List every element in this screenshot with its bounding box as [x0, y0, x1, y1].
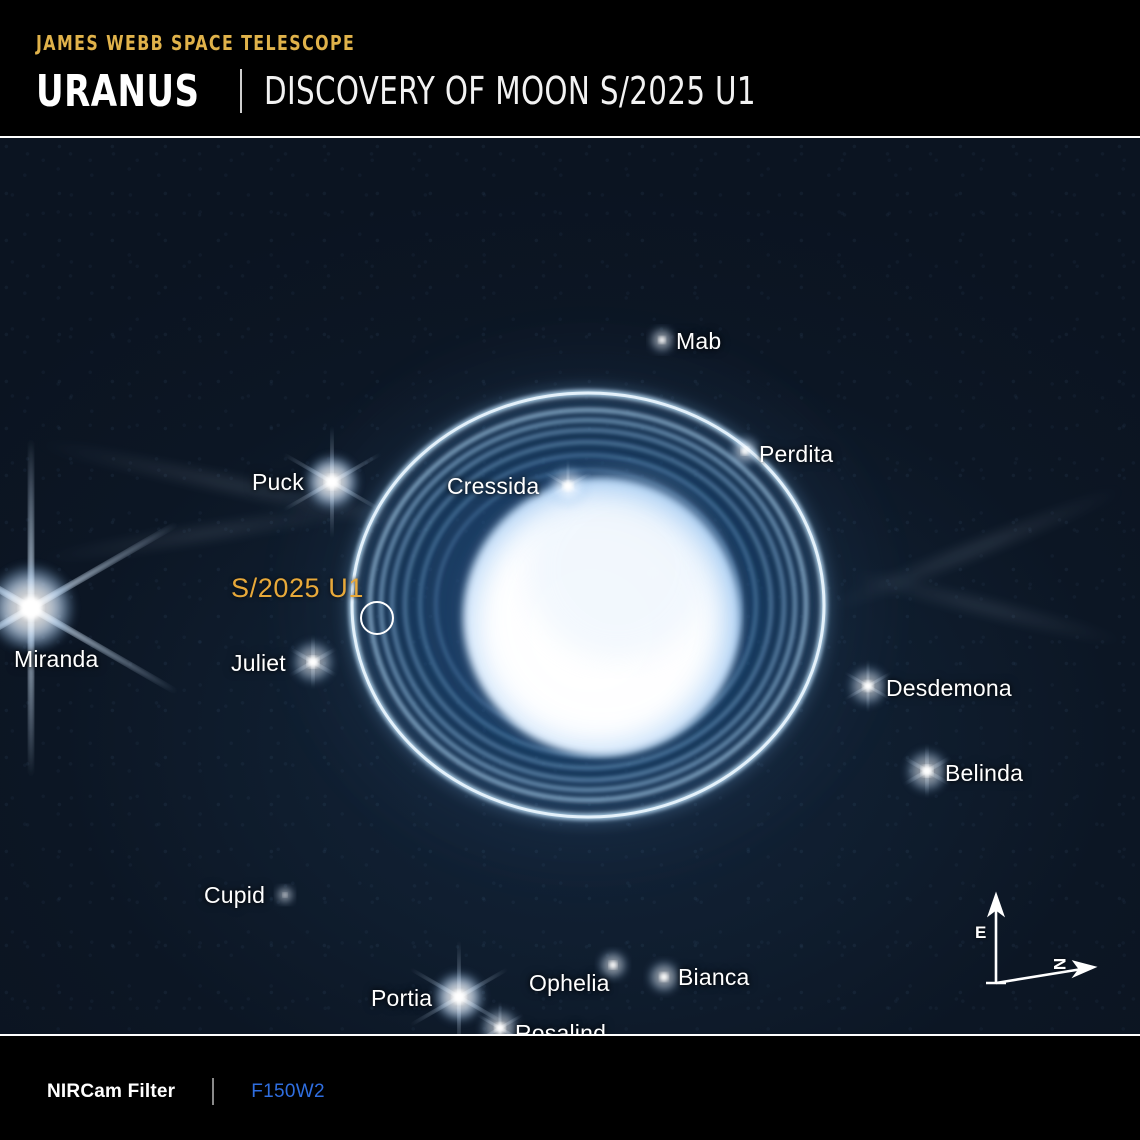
moon-label-cressida: Cressida	[447, 473, 539, 500]
footer-divider	[212, 1078, 214, 1105]
observatory-name: JAMES WEBB SPACE TELESCOPE	[36, 31, 355, 55]
header-bar: JAMES WEBB SPACE TELESCOPE URANUS DISCOV…	[0, 0, 1140, 138]
moon-label-puck: Puck	[252, 469, 304, 496]
moon-perdita	[730, 436, 760, 466]
page-subtitle: DISCOVERY OF MOON S/2025 U1	[264, 69, 756, 113]
title-row: URANUS DISCOVERY OF MOON S/2025 U1	[36, 62, 836, 120]
moon-label-belinda: Belinda	[945, 760, 1023, 787]
title-divider	[240, 69, 242, 113]
filter-label: NIRCam Filter	[47, 1081, 175, 1103]
footer-rule	[0, 1034, 1140, 1036]
moon-label-juliet: Juliet	[231, 650, 286, 677]
moon-label-rosalind: Rosalind	[515, 1020, 606, 1034]
moon-bianca	[647, 960, 681, 994]
moon-mab	[649, 327, 676, 354]
jwst-uranus-image-card: JAMES WEBB SPACE TELESCOPE URANUS DISCOV…	[0, 0, 1140, 1140]
compass-label-east: E	[975, 923, 986, 943]
moon-label-cupid: Cupid	[204, 882, 265, 909]
moon-label-desdemona: Desdemona	[886, 675, 1012, 702]
footer-bar: NIRCam Filter F150W2	[0, 1034, 1140, 1140]
moon-label-bianca: Bianca	[678, 964, 750, 991]
filter-value: F150W2	[251, 1081, 325, 1103]
compass-label-north: N	[1049, 958, 1069, 970]
moon-belinda	[904, 745, 950, 797]
moon-label-miranda: Miranda	[14, 646, 99, 673]
moon-cupid	[276, 886, 295, 905]
page-title: URANUS	[36, 66, 199, 117]
moon-miranda	[0, 438, 180, 778]
discovery-label: S/2025 U1	[231, 573, 364, 604]
uranus-rings-and-disk	[0, 138, 1140, 1034]
moon-label-perdita: Perdita	[759, 441, 833, 468]
moon-label-mab: Mab	[676, 328, 721, 355]
moon-label-portia: Portia	[371, 985, 432, 1012]
discovery-circle-marker	[360, 601, 394, 635]
telescope-image: S/2025 U1 MabPerditaCressidaPuckMirandaJ…	[0, 138, 1140, 1034]
compass-rose	[986, 893, 1096, 983]
filter-info: NIRCam Filter F150W2	[47, 1078, 325, 1105]
moon-label-ophelia: Ophelia	[529, 970, 610, 997]
